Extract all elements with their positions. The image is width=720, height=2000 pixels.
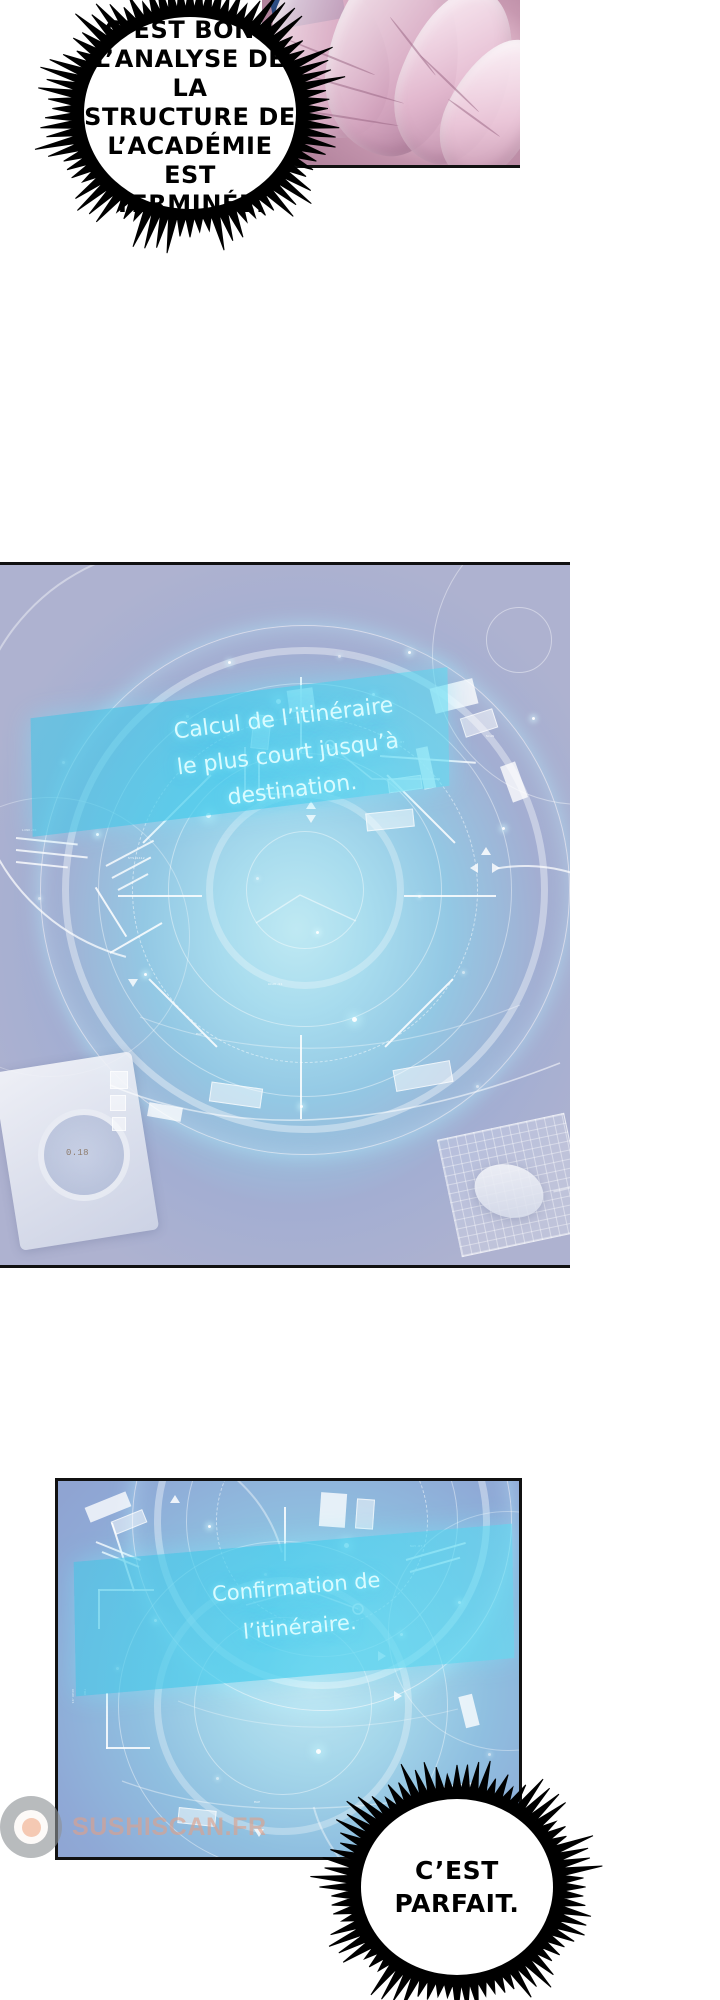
webtoon-page: SYS-0412 NAV.RT SCAN LINK-OK ACAD-01 MAP [0,0,720,2000]
holo-connector-lines [0,565,570,1265]
panel-holographic-route: SYS-0412 NAV.RT SCAN LINK-OK ACAD-01 MAP [0,562,570,1268]
speech-bubble-top: C’EST BON ! L’ANALYSE DE LA STRUCTURE DE… [40,0,340,244]
holo-overlay: SYS-0412 NAV.RT SCAN LINK-OK ACAD-01 MAP [0,565,570,1265]
sushi-roll-center [22,1818,41,1837]
speech-bubble-top-text: C’EST BON ! L’ANALYSE DE LA STRUCTURE DE… [40,0,340,244]
speech-bubble-bottom: C’EST PARFAIT. [318,1762,596,2000]
watermark: SUSHISCAN.FR [0,1796,267,1858]
sushi-roll-icon [0,1796,62,1858]
speech-bubble-bottom-text: C’EST PARFAIT. [318,1762,596,2000]
watermark-text: SUSHISCAN.FR [72,1813,267,1842]
